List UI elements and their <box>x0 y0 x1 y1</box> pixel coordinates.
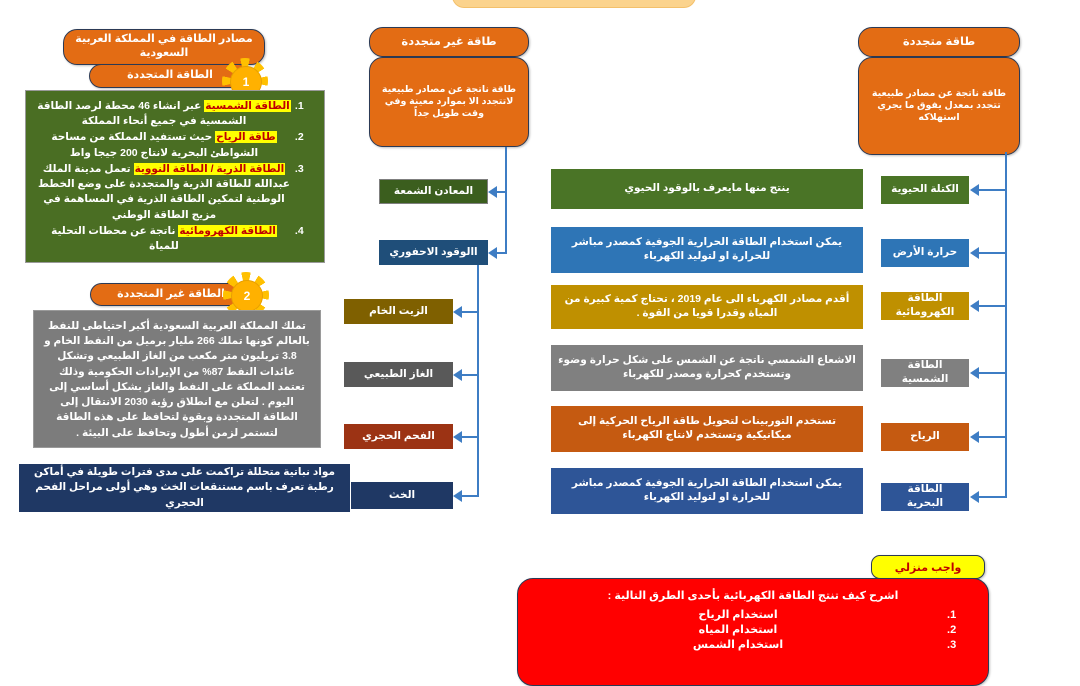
list-item: الطاقة الذرية / الطاقة النووية تعمل مدين… <box>36 162 292 223</box>
right-item-label-0: الكتلة الحيوية <box>891 183 959 197</box>
list-item: الطاقة الكهرومائية ناتجة عن محطات التحلي… <box>36 224 292 254</box>
arrow-middle-4 <box>453 431 462 443</box>
right-desc-box-0: ينتج منها مايعرف بالوقود الحيوي <box>551 169 863 209</box>
connector-h-right-3 <box>979 372 1007 374</box>
non-renewable-header-desc: طاقة ناتجة عن مصادر طبيعية لاتتجدد الا ب… <box>376 84 522 120</box>
renewable-text-3: ناتجة عن محطات التحلية للمياة <box>51 225 179 252</box>
right-item-label-3: الطاقة الشمسية <box>888 359 962 386</box>
connector-h-middle-0 <box>497 191 506 193</box>
non-renewable-tab-left-label: الطاقة غير المتجددة <box>117 288 225 302</box>
renewable-header: طاقة متجددة <box>858 27 1020 57</box>
arrow-middle-1 <box>488 247 497 259</box>
connector-h-middle-5 <box>462 495 479 497</box>
homework-options-list: استخدام الرياح استخدام المياه استخدام ال… <box>532 608 974 651</box>
homework-tab-label: واجب منزلي <box>895 561 962 574</box>
right-item-box-2: الطاقة الكهرومائية <box>881 292 969 320</box>
arrow-middle-3 <box>453 369 462 381</box>
right-item-box-5: الطاقة البحرية <box>881 483 969 511</box>
left-main-title-text: مصادر الطاقة في المملكة العربية السعودية <box>70 33 258 61</box>
middle-item-label-0: المعادن الشمعة <box>394 185 473 199</box>
arrow-right-2 <box>970 300 979 312</box>
peat-description-box: مواد نباتية متحللة تراكمت على مدى فترات … <box>19 464 350 512</box>
connector-trunk-right <box>1005 152 1007 497</box>
right-desc-box-3: الاشعاع الشمسي ناتجة عن الشمس على شكل حر… <box>551 345 863 391</box>
middle-item-box-1: االوقود الاحفوري <box>379 240 488 265</box>
right-desc-box-5: يمكن استخدام الطاقة الحرارية الجوفية كمص… <box>551 468 863 514</box>
right-desc-box-1: يمكن استخدام الطاقة الحرارية الجوفية كمص… <box>551 227 863 273</box>
right-desc-text-4: تستخدم التوربينات لتحويل طاقة الرياح الح… <box>558 415 856 442</box>
connector-trunk-middle-top <box>505 147 507 254</box>
middle-item-box-0: المعادن الشمعة <box>379 179 488 204</box>
renewable-header-desc-box: طاقة ناتجة عن مصادر طبيعية تتجدد بمعدل ي… <box>858 57 1020 155</box>
right-desc-text-0: ينتج منها مايعرف بالوقود الحيوي <box>624 182 789 196</box>
homework-box: اشرح كيف تنتج الطاقة الكهربائية بأحدى ال… <box>517 578 989 686</box>
arrow-right-4 <box>970 431 979 443</box>
middle-item-label-3: الغاز الطبيعي <box>364 368 433 382</box>
peat-description-text: مواد نباتية متحللة تراكمت على مدى فترات … <box>30 465 339 511</box>
non-renewable-header-title: طاقة غير متجددة <box>401 35 496 49</box>
right-item-box-1: حرارة الأرض <box>881 239 969 267</box>
non-renewable-header: طاقة غير متجددة <box>369 27 529 57</box>
non-renewable-header-desc-box: طاقة ناتجة عن مصادر طبيعية لاتتجدد الا ب… <box>369 57 529 147</box>
right-desc-text-5: يمكن استخدام الطاقة الحرارية الجوفية كمص… <box>558 477 856 504</box>
middle-item-label-2: الزيت الخام <box>369 305 428 319</box>
connector-h-middle-2 <box>462 311 479 313</box>
right-desc-text-3: الاشعاع الشمسي ناتجة عن الشمس على شكل حر… <box>558 354 856 381</box>
diagram-canvas: مصادر الطاقة في المملكة العربية السعودية… <box>0 0 1080 675</box>
renewable-tag-2: الطاقة الذرية / الطاقة النووية <box>134 163 286 175</box>
middle-item-label-4: الفحم الحجري <box>362 430 435 444</box>
arrow-right-1 <box>970 247 979 259</box>
connector-h-right-0 <box>979 189 1007 191</box>
renewable-details-box: الطاقة الشمسية عبر انشاء 46 محطة لرصد ال… <box>25 90 325 263</box>
renewable-details-list: الطاقة الشمسية عبر انشاء 46 محطة لرصد ال… <box>36 99 314 254</box>
right-desc-text-2: أقدم مصادر الكهرباء الى عام 2019 ، تحتاج… <box>558 293 856 320</box>
right-item-box-4: الرياح <box>881 423 969 451</box>
renewable-header-title: طاقة متجددة <box>903 35 975 49</box>
list-item: استخدام الرياح <box>532 608 944 621</box>
arrow-middle-0 <box>488 186 497 198</box>
middle-item-box-5: الخث <box>351 482 453 509</box>
middle-item-box-3: الغاز الطبيعي <box>344 362 453 387</box>
homework-question: اشرح كيف تنتج الطاقة الكهربائية بأحدى ال… <box>532 589 974 602</box>
connector-trunk-middle-bottom <box>477 265 479 496</box>
connector-h-middle-4 <box>462 436 479 438</box>
arrow-middle-5 <box>453 490 462 502</box>
right-item-label-1: حرارة الأرض <box>893 246 957 260</box>
middle-item-box-4: الفحم الحجري <box>344 424 453 449</box>
connector-h-right-2 <box>979 305 1007 307</box>
renewable-tag-0: الطاقة الشمسية <box>204 100 290 112</box>
connector-h-middle-1 <box>497 252 506 254</box>
connector-h-right-4 <box>979 436 1007 438</box>
list-item: طاقة الرياح حيث تستفيد المملكة من مساحة … <box>36 130 292 160</box>
arrow-right-0 <box>970 184 979 196</box>
top-banner-strip <box>452 0 696 8</box>
sun-number-two: 2 <box>231 280 263 312</box>
right-item-box-0: الكتلة الحيوية <box>881 176 969 204</box>
arrow-middle-2 <box>453 306 462 318</box>
list-item: استخدام المياه <box>532 623 944 636</box>
middle-item-box-2: الزيت الخام <box>344 299 453 324</box>
right-item-box-3: الطاقة الشمسية <box>881 359 969 387</box>
right-item-label-4: الرياح <box>910 430 940 444</box>
middle-item-label-5: الخث <box>389 489 415 503</box>
renewable-header-desc: طاقة ناتجة عن مصادر طبيعية تتجدد بمعدل ي… <box>865 88 1013 124</box>
homework-tab: واجب منزلي <box>871 555 985 579</box>
connector-h-middle-3 <box>462 374 479 376</box>
renewable-tag-1: طاقة الرياح <box>215 131 277 143</box>
non-renewable-details-text: تملك المملكة العربية السعودية أكبر احتيا… <box>44 320 310 439</box>
list-item: استخدام الشمس <box>532 638 944 651</box>
list-item: الطاقة الشمسية عبر انشاء 46 محطة لرصد ال… <box>36 99 292 129</box>
renewable-tag-3: الطاقة الكهرومائية <box>178 225 277 237</box>
middle-item-label-1: االوقود الاحفوري <box>389 246 477 260</box>
connector-h-right-1 <box>979 252 1007 254</box>
right-item-label-2: الطاقة الكهرومائية <box>888 292 962 319</box>
non-renewable-details-box: تملك المملكة العربية السعودية أكبر احتيا… <box>33 310 321 448</box>
right-item-label-5: الطاقة البحرية <box>888 483 962 510</box>
connector-h-right-5 <box>979 496 1007 498</box>
right-desc-box-2: أقدم مصادر الكهرباء الى عام 2019 ، تحتاج… <box>551 285 863 329</box>
right-desc-box-4: تستخدم التوربينات لتحويل طاقة الرياح الح… <box>551 406 863 452</box>
right-desc-text-1: يمكن استخدام الطاقة الحرارية الجوفية كمص… <box>558 236 856 263</box>
arrow-right-3 <box>970 367 979 379</box>
arrow-right-5 <box>970 491 979 503</box>
renewable-tab-left-label: الطاقة المتجددة <box>127 69 213 83</box>
